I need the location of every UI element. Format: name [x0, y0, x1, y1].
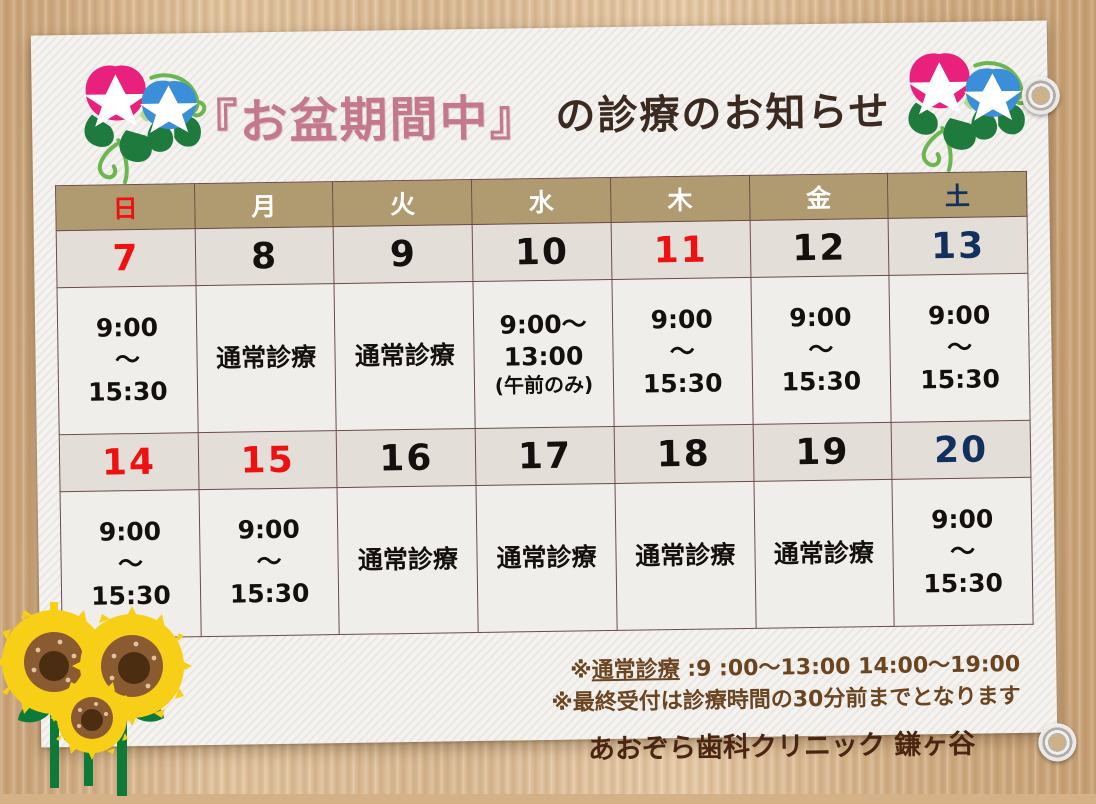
hours-line: 〜	[894, 535, 1032, 569]
hours-cell: 9:00 〜 15:30	[199, 488, 340, 637]
hours-line: 〜	[58, 343, 196, 377]
hours-cell: 9:00 〜 15:30	[57, 286, 198, 435]
week1-hours-row: 9:00 〜 15:30 通常診療 通常診療 9:00〜 13:00 (午前のみ…	[57, 273, 1030, 434]
hours-line: 〜	[200, 545, 338, 579]
morning-glory-icon	[55, 51, 227, 198]
hours-cell: 9:00 〜 15:30	[612, 277, 753, 426]
hours-line: 15:30	[59, 375, 197, 409]
dow-header: 水	[472, 177, 611, 224]
poster-background: 『お盆期間中』の診療のお知らせ	[0, 0, 1096, 794]
hours-cell: 通常診療	[196, 284, 337, 433]
date-cell: 13	[888, 216, 1028, 275]
hours-line: 〜	[61, 547, 199, 581]
dow-label: 土	[945, 182, 970, 211]
hours-line: 15:30	[894, 567, 1032, 601]
note-underlined-term: 通常診療	[591, 657, 679, 683]
date-cell: 19	[753, 422, 893, 481]
hours-line: 通常診療	[616, 539, 754, 573]
dow-header: 木	[610, 175, 749, 222]
dow-label: 木	[667, 186, 692, 215]
hours-line: 〜	[890, 331, 1028, 365]
hours-line: 〜	[752, 333, 890, 367]
date-cell: 10	[472, 222, 612, 281]
hours-cell: 9:00 〜 15:30	[892, 477, 1033, 626]
hours-cell: 9:00 〜 15:30	[750, 275, 891, 424]
hours-note: (午前のみ)	[475, 372, 613, 400]
dow-header: 金	[749, 173, 888, 220]
date-cell: 12	[750, 218, 890, 277]
hours-cell: 通常診療	[753, 479, 894, 628]
hours-line: 通常診療	[197, 341, 335, 375]
hours-line: 通常診療	[755, 537, 893, 571]
hours-line: 通常診療	[336, 339, 474, 373]
hours-line: 9:00	[200, 513, 338, 547]
hours-cell: 通常診療	[476, 483, 617, 632]
grommet-icon	[1021, 76, 1060, 115]
hours-line: 15:30	[752, 365, 890, 399]
hours-cell: 9:00 〜 15:30	[889, 273, 1030, 422]
dow-label: 金	[806, 184, 831, 213]
hours-cell: 通常診療	[337, 486, 478, 635]
hours-line: 9:00	[890, 299, 1028, 333]
grommet-icon	[1038, 723, 1077, 762]
morning-glory-icon	[879, 38, 1051, 185]
date-cell: 11	[611, 220, 751, 279]
dow-label: 火	[390, 190, 415, 219]
hours-line: 15:30	[614, 367, 752, 401]
hours-line: 15:30	[201, 577, 339, 611]
sunflower-icon	[0, 600, 212, 804]
date-cell: 14	[59, 433, 199, 492]
hours-line: 通常診療	[339, 543, 477, 577]
obon-schedule-table: 日 月 火 水 木 金 土 7 8 9 10 11 12 13 9:00	[55, 171, 1034, 639]
hours-line: 9:00〜	[474, 308, 612, 342]
hours-line: 13:00	[474, 340, 612, 374]
hours-line: 9:00	[613, 303, 751, 337]
date-cell: 16	[337, 429, 477, 488]
hours-line: 9:00	[751, 301, 889, 335]
hours-line: 9:00	[61, 515, 199, 549]
hours-line: 9:00	[893, 503, 1031, 537]
title-bracketed-text: 『お盆期間中』	[189, 90, 540, 151]
hours-cell: 通常診療	[334, 282, 475, 431]
hours-line: 15:30	[891, 363, 1029, 397]
hours-line: 通常診療	[477, 541, 615, 575]
date-cell: 18	[614, 424, 754, 483]
date-cell: 17	[475, 426, 615, 485]
dow-label: 日	[112, 194, 137, 223]
hours-cell: 通常診療	[615, 481, 756, 630]
title-rest-text: の診療のお知らせ	[555, 89, 891, 140]
hours-line: 〜	[613, 335, 751, 369]
note-mark: ※	[570, 658, 592, 683]
date-cell: 9	[334, 225, 474, 284]
date-cell: 20	[891, 420, 1031, 479]
dow-header: 火	[333, 180, 472, 227]
dow-label: 月	[251, 192, 276, 221]
date-cell: 15	[198, 431, 338, 490]
date-cell: 7	[56, 229, 196, 288]
hours-cell: 9:00〜 13:00 (午前のみ)	[473, 279, 614, 428]
dow-label: 水	[529, 188, 554, 217]
note-hours-text: :9 :00〜13:00 14:00〜19:00	[679, 652, 1020, 682]
date-cell: 8	[195, 227, 335, 286]
hours-line: 9:00	[58, 311, 196, 345]
